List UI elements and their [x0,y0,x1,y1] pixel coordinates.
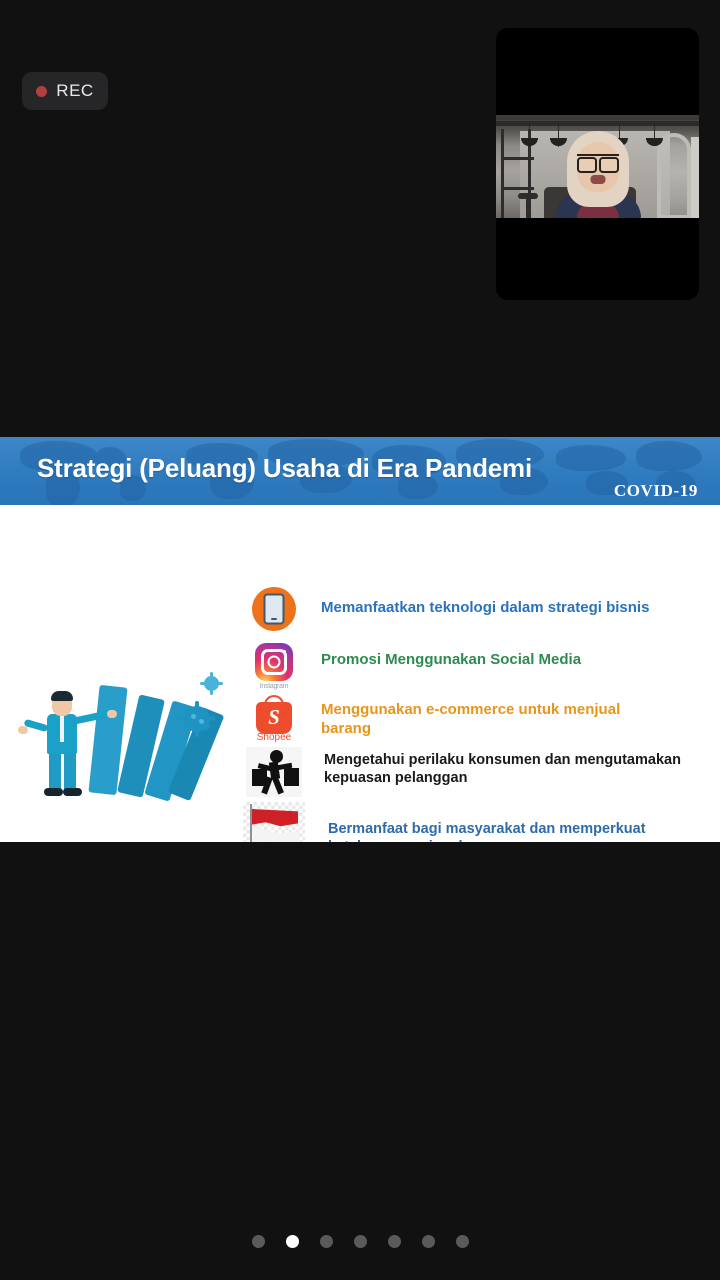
shopper-head [270,750,283,763]
slide-title: Strategi (Peluang) Usaha di Era Pandemi [37,453,532,484]
strategy-item-national-label: Bermanfaat bagi masyarakat dan memperkua… [328,820,688,842]
shopee-letter: S [253,707,295,728]
pendant-lamp-icon [529,125,530,139]
shopper-icon-wrap [238,747,310,797]
strategy-item-consumer-label: Mengetahui perilaku konsumen dan menguta… [324,751,684,787]
shopping-bag-right [284,768,299,786]
pagination-dot-4[interactable] [354,1235,367,1248]
wall-column [691,137,699,218]
pagination-dot-5[interactable] [388,1235,401,1248]
businessman-shoe-left [44,788,63,796]
flag-red-stripe [252,809,298,829]
recording-indicator-badge: REC [22,72,108,110]
coronavirus-icon [184,706,210,732]
shopper-icon [246,747,302,797]
businessman-shoe-right [63,788,82,796]
instagram-dot [283,650,287,654]
pagination-dot-1[interactable] [252,1235,265,1248]
shopee-icon-wrap: S Shopee [242,694,306,740]
pagination-dot-6[interactable] [422,1235,435,1248]
coronavirus-icon-small [204,676,219,691]
self-view-video-tile[interactable] [496,28,699,300]
businessman-hand-right [107,710,117,718]
strategy-item-social-media-label: Promosi Menggunakan Social Media [321,651,691,670]
instagram-caption: Instagram [255,683,293,690]
video-frame [496,115,699,218]
pendant-lamp-icon [654,125,655,139]
pagination-dot-2[interactable] [286,1235,299,1248]
businessman-leg-left [49,752,61,790]
flag-pole [250,804,252,842]
smartphone-icon-wrap [242,587,306,631]
slide-header-banner: Strategi (Peluang) Usaha di Era Pandemi … [0,437,720,505]
strategy-item-technology-label: Memanfaatkan teknologi dalam strategi bi… [321,599,691,618]
presenter-brow [577,154,619,156]
indonesia-flag-icon [243,802,305,842]
presenter-figure [555,131,641,218]
businessman-hair [51,691,73,701]
window-arch [657,133,691,218]
flag-icon-wrap [238,802,310,842]
slide-canvas[interactable]: Strategi (Peluang) Usaha di Era Pandemi … [0,437,720,842]
businessman-leg-right [64,752,76,790]
instagram-icon: Instagram [255,643,293,681]
shopee-caption: Shopee [251,732,297,743]
covid-19-tag: COVID-19 [614,481,698,501]
flag-white-stripe [252,826,298,842]
slide-body: Memanfaatkan teknologi dalam strategi bi… [0,505,720,842]
slide-pagination[interactable] [0,1235,720,1248]
recording-label: REC [56,81,93,101]
strategy-item-ecommerce-label: Menggunakan e-commerce untuk menjual bar… [321,701,641,739]
ceiling-beam [496,121,699,126]
businessman-tie [60,716,64,742]
record-dot-icon [36,86,47,97]
presenter-mouth [590,175,605,184]
business-domino-illustration [18,670,228,800]
stool [518,193,538,218]
pagination-dot-3[interactable] [320,1235,333,1248]
smartphone-icon [252,587,296,631]
glasses-icon [577,157,619,169]
ceiling-beam-upper [496,117,699,120]
shopee-icon: S Shopee [253,694,295,740]
pagination-dot-7[interactable] [456,1235,469,1248]
businessman-figure [36,690,92,795]
shopper-leg-right [272,776,284,794]
businessman-hand-left [18,726,28,734]
presentation-viewer-screen: REC [0,0,720,1280]
instagram-icon-wrap: Instagram [242,643,306,681]
